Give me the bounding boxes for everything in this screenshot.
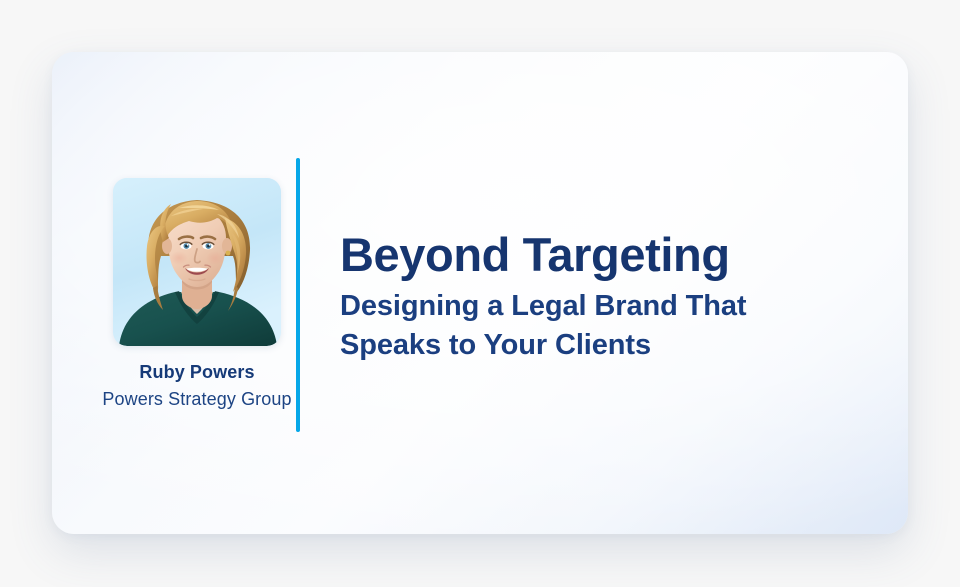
title-block: Beyond Targeting Designing a Legal Brand… [340, 227, 870, 365]
slide-subtitle: Designing a Legal Brand That Speaks to Y… [340, 287, 770, 365]
speaker-organization: Powers Strategy Group [93, 388, 301, 410]
accent-divider [296, 158, 300, 432]
slide-card: Ruby Powers Powers Strategy Group Beyond… [52, 52, 908, 534]
slide-title: Beyond Targeting [340, 227, 870, 283]
speaker-block: Ruby Powers Powers Strategy Group [93, 178, 301, 410]
speaker-name: Ruby Powers [93, 361, 301, 383]
speaker-headshot-photo [113, 178, 281, 346]
headshot-illustration [113, 178, 281, 346]
slide-stage: Ruby Powers Powers Strategy Group Beyond… [0, 0, 960, 587]
